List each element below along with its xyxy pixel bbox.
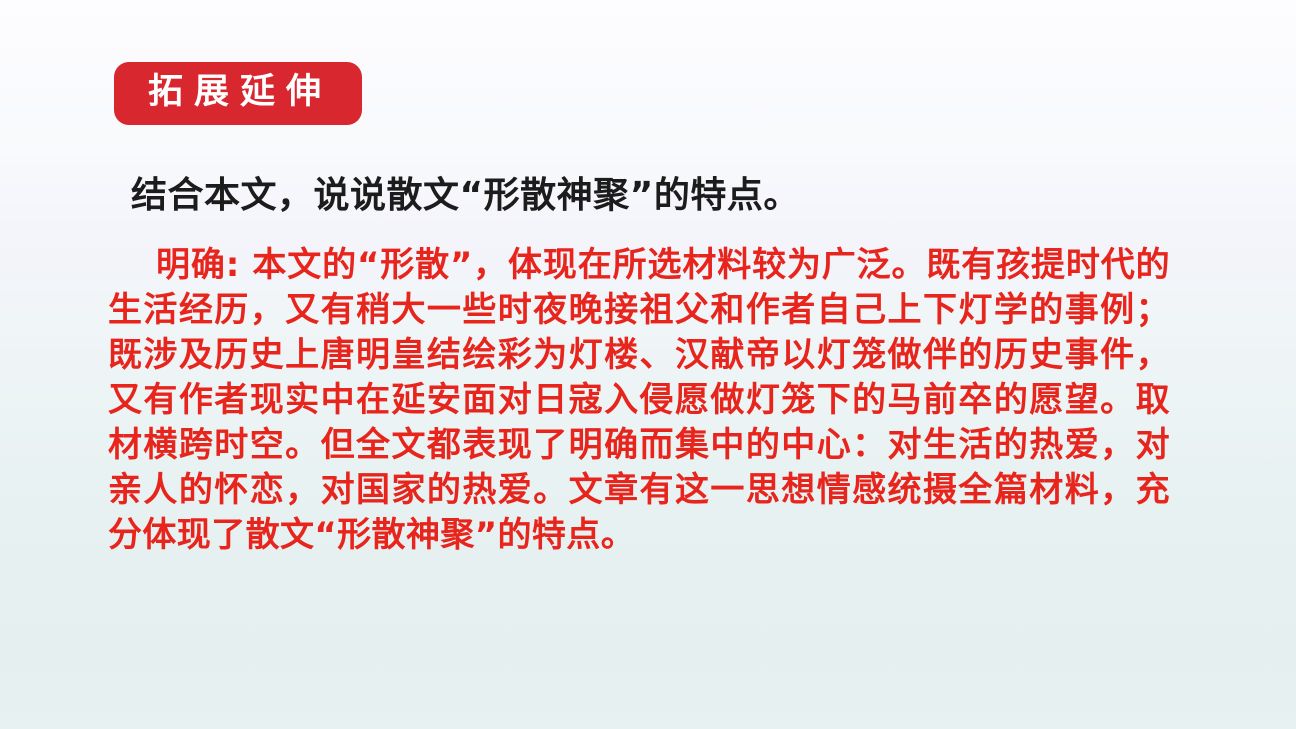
section-badge: 拓展延伸 xyxy=(114,62,362,125)
section-badge-container: 拓展延伸 xyxy=(114,62,362,125)
answer-body-text: 明确: 本文的“形散”，体现在所选材料较为广泛。既有孩提时代的生活经历，又有稍大… xyxy=(108,243,1170,558)
slide-canvas: 拓展延伸 结合本文，说说散文“形散神聚”的特点。 明确: 本文的“形散”，体现在… xyxy=(0,0,1296,729)
question-title: 结合本文，说说散文“形散神聚”的特点。 xyxy=(131,166,800,218)
